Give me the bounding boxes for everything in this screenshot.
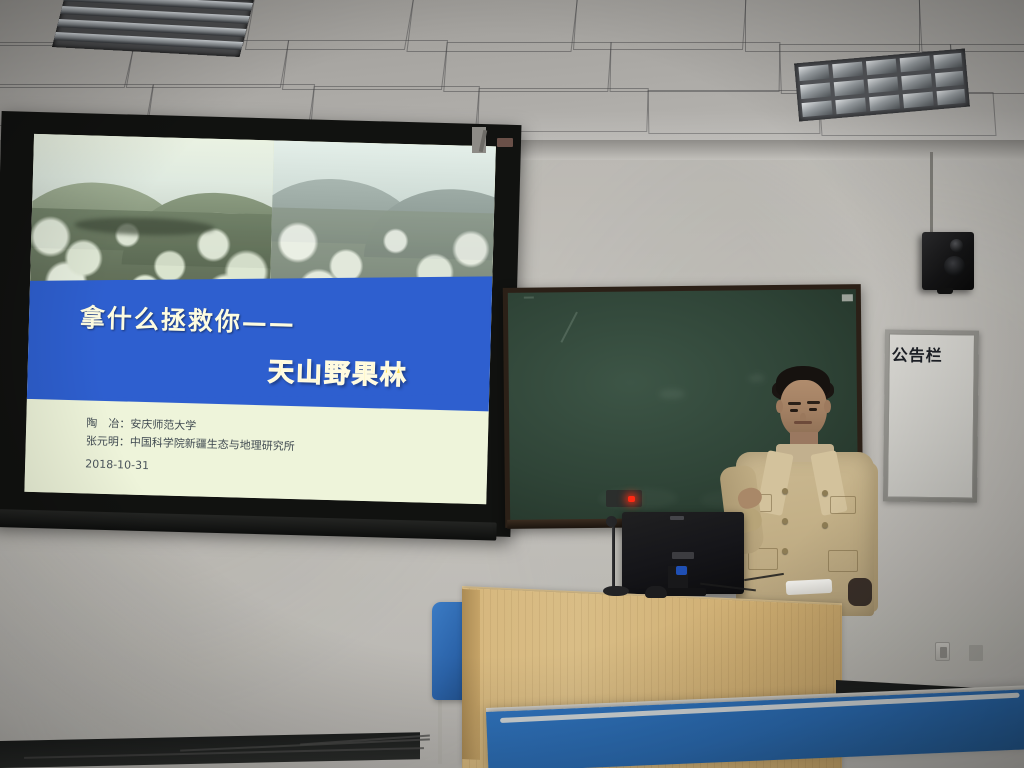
computer-mouse[interactable] — [645, 586, 667, 598]
slide-title-main: 拿什么拯救你—— — [79, 298, 296, 340]
power-outlet — [935, 642, 950, 661]
microphone-base — [603, 586, 629, 596]
speaker-woofer-icon — [944, 256, 965, 276]
ceiling-air-vent — [52, 0, 254, 57]
wall-conduit — [930, 152, 933, 234]
presenter-face — [780, 380, 827, 438]
presenter-right-hand — [848, 578, 872, 606]
equipment-indicator-plate — [606, 490, 642, 507]
wall-patch — [969, 645, 983, 661]
classroom-photo-scene: 拿什么拯救你—— 天山野果林 陶 冶：安庆师范大学 张元明：中国科学院新疆生态与… — [0, 0, 1024, 768]
slide-title-subject: 天山野果林 — [267, 352, 408, 393]
wall-speaker — [922, 232, 974, 290]
monitor-vga-cable — [676, 566, 687, 575]
speaker-tweeter-icon — [950, 239, 963, 252]
notice-board: 公告栏 — [883, 329, 979, 502]
projected-slide: 拿什么拯救你—— 天山野果林 陶 冶：安庆师范大学 张元明：中国科学院新疆生态与… — [24, 134, 496, 504]
papers-on-podium — [786, 579, 833, 595]
notice-board-title: 公告栏 — [892, 342, 943, 367]
screen-mount-anchor — [497, 138, 513, 147]
slide-date: 2018-10-31 — [85, 458, 149, 473]
projection-screen: 拿什么拯救你—— 天山野果林 陶 冶：安庆师范大学 张元明：中国科学院新疆生态与… — [0, 111, 521, 537]
blackboard-corner-tag — [842, 294, 853, 301]
slide-authors: 陶 冶：安庆师范大学 张元明：中国科学院新疆生态与地理研究所 — [86, 415, 296, 457]
speaker-bracket — [937, 288, 953, 294]
power-indicator-led — [628, 496, 635, 502]
microphone-capsule — [606, 516, 617, 527]
microphone-stem — [612, 522, 615, 588]
podium-left-panel — [462, 589, 480, 760]
